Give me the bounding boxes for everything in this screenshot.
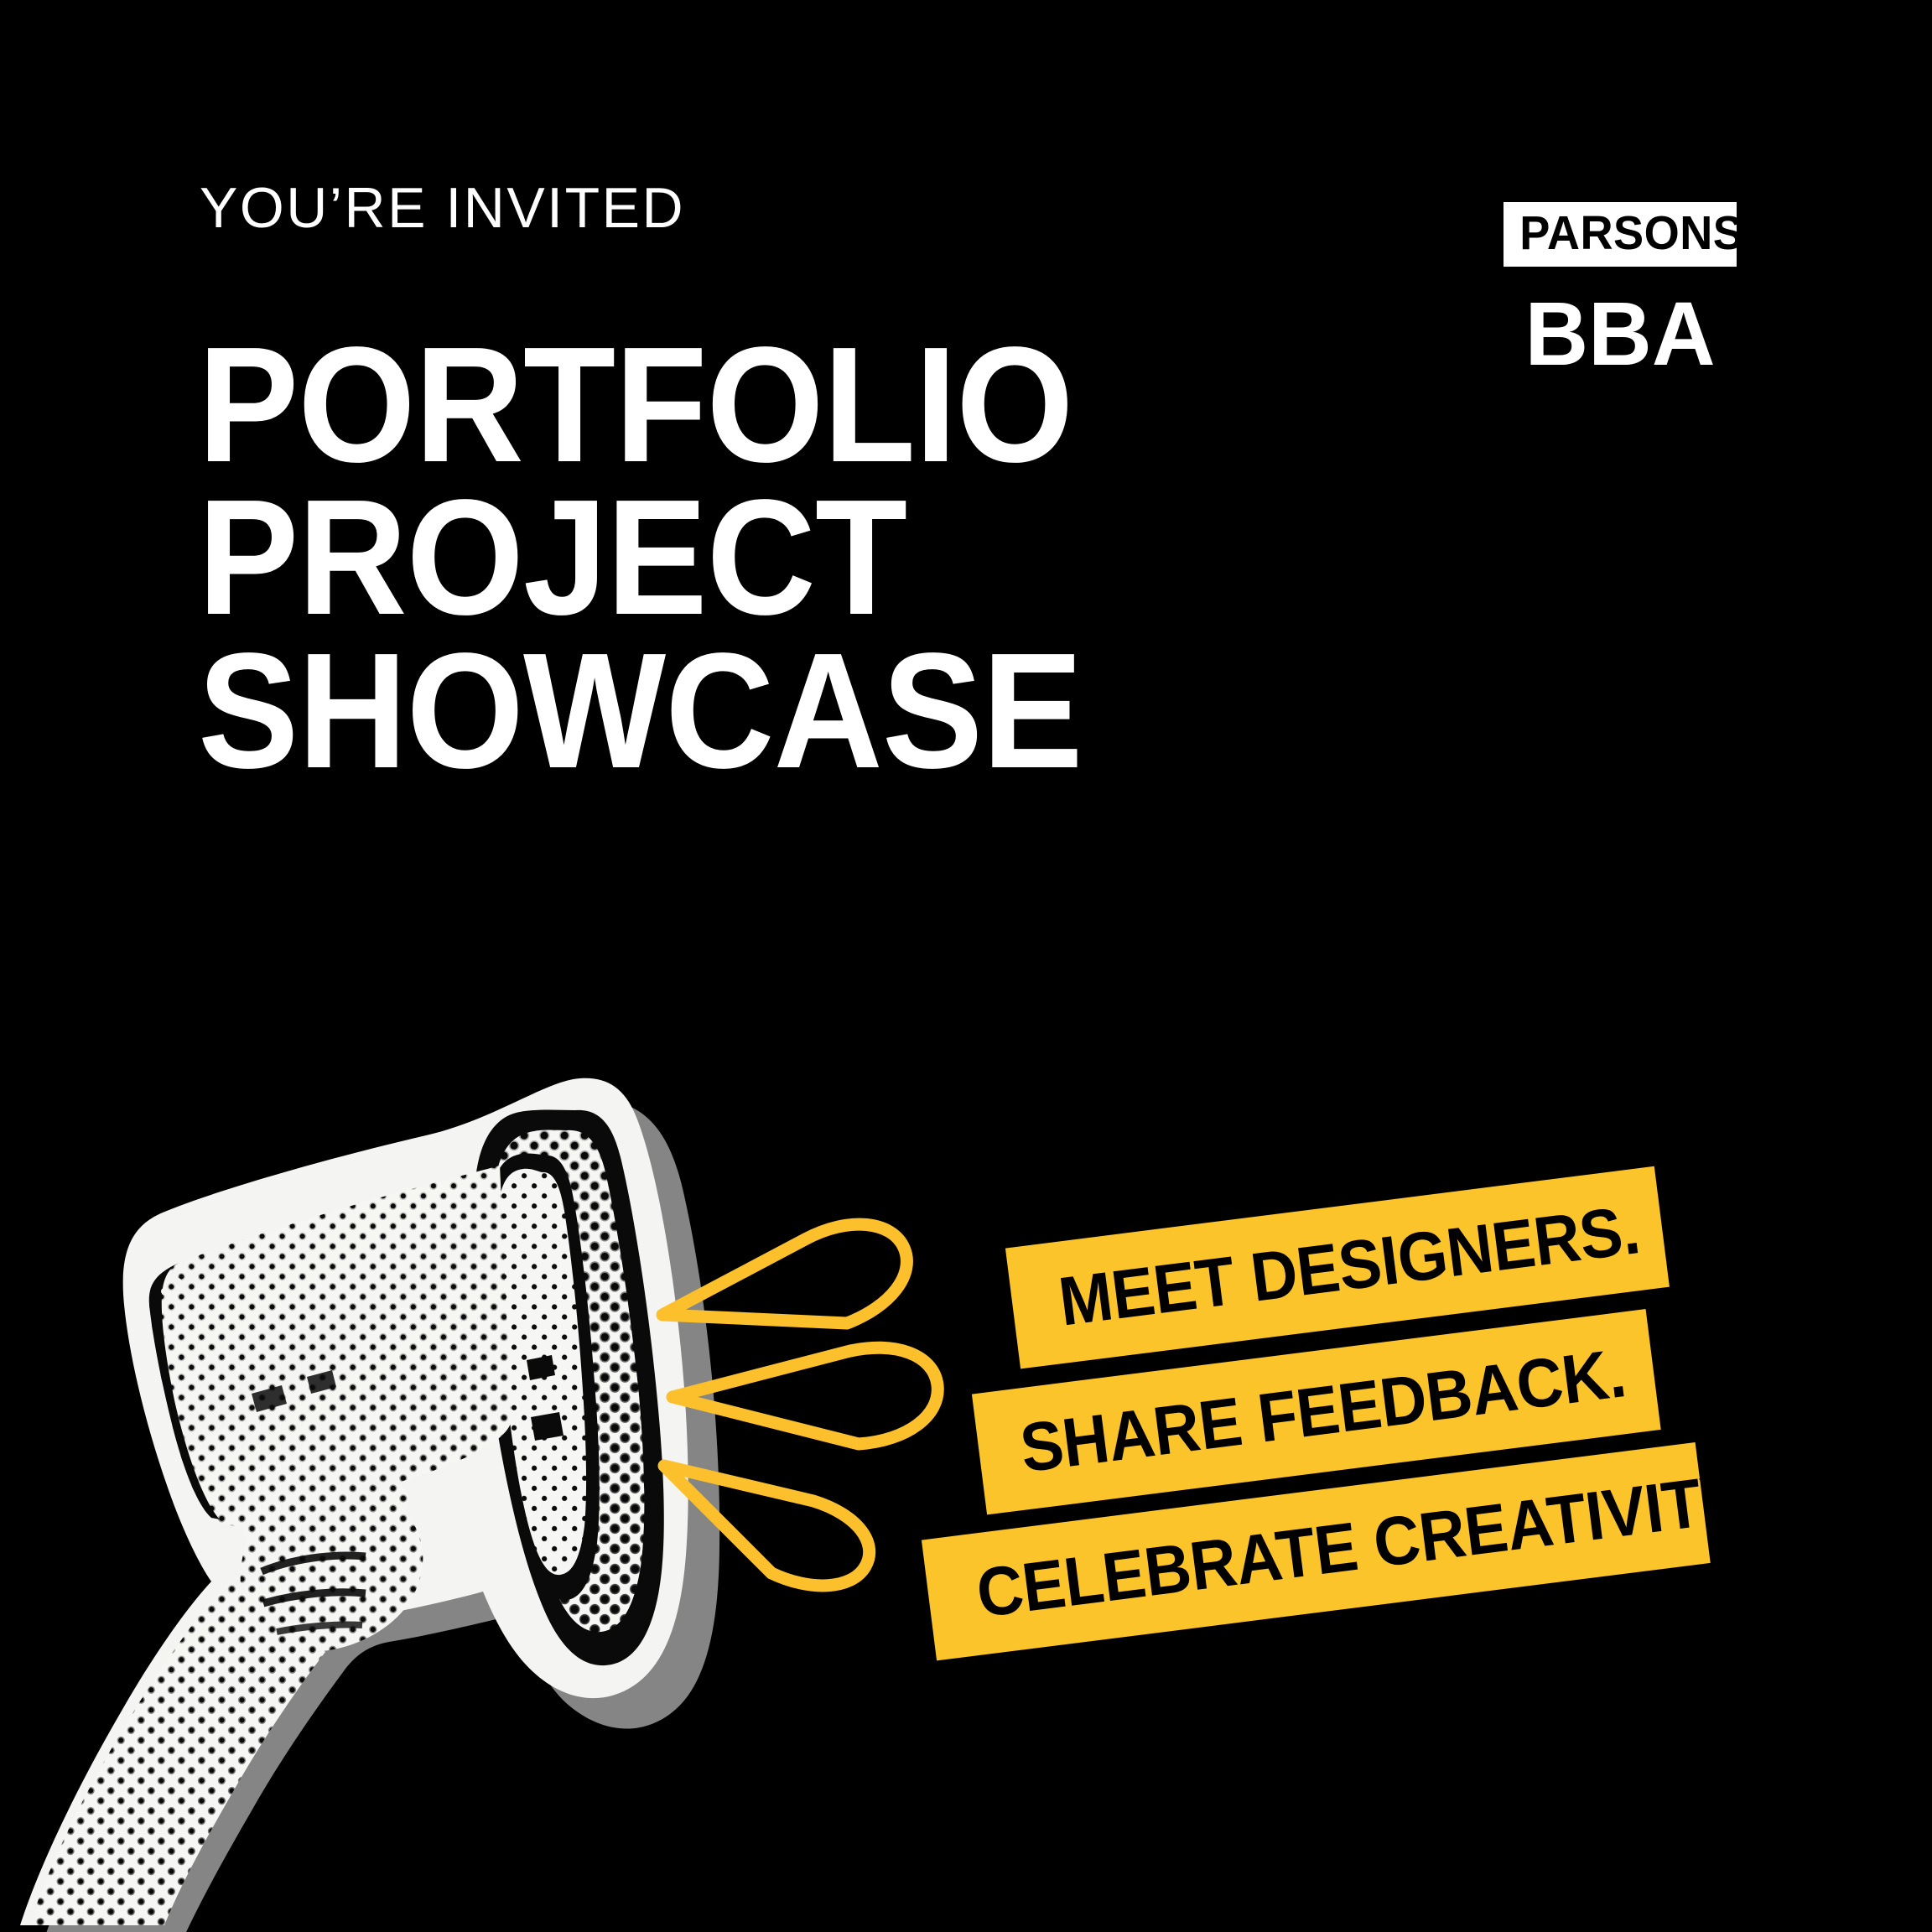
tagline-banner-group: MEET DESIGNERS. SHARE FEEDBACK. CELEBRAT…: [964, 1174, 1912, 1702]
parsons-wordmark: PARSONS: [1519, 210, 1720, 257]
page-title: PORTFOLIO PROJECT SHOWCASE: [198, 329, 1159, 787]
megaphone-illustration: [0, 1065, 973, 1932]
bba-program-mark: BBA: [1507, 288, 1733, 379]
megaphone-svg: [0, 1065, 973, 1932]
eyebrow-label: YOU’RE INVITED: [200, 179, 685, 236]
headline-line-2: PROJECT: [198, 481, 1083, 634]
parsons-wordmark-box: PARSONS: [1504, 202, 1737, 267]
poster-canvas: YOU’RE INVITED PORTFOLIO PROJECT SHOWCAS…: [0, 0, 1932, 1932]
headline-line-3: SHOWCASE: [198, 635, 1083, 787]
parsons-bba-logo: PARSONS BBA: [1504, 202, 1737, 379]
tagline-banner-1-label: MEET DESIGNERS.: [1055, 1196, 1643, 1337]
headline-line-1: PORTFOLIO: [198, 329, 1083, 481]
